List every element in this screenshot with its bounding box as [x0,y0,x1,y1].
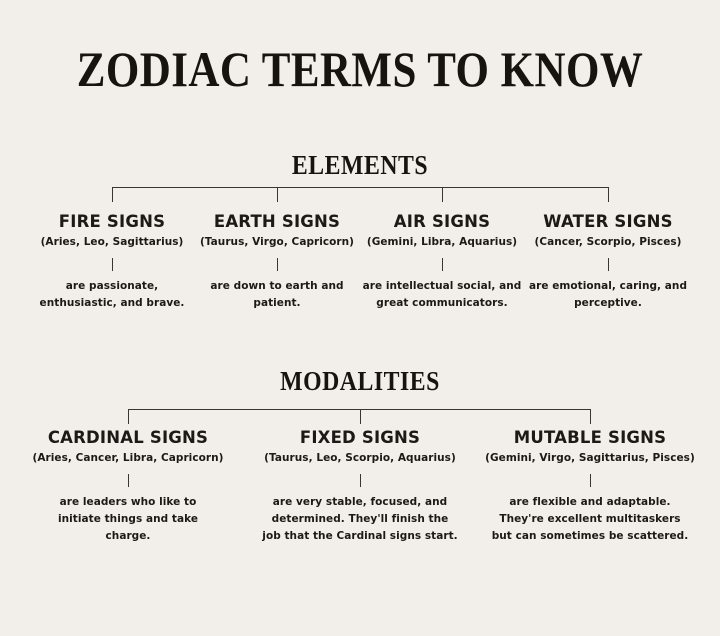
elements-stem-earth [277,258,278,271]
modality-signs-cardinal: (Aries, Cancer, Libra, Capricorn) [8,451,248,466]
modality-description-mutable: are flexible and adaptable. They're exce… [488,494,692,545]
modalities-stem-fixed [360,474,361,487]
element-description-air: are intellectual social, and great commu… [357,278,527,312]
modality-signs-mutable: (Gemini, Virgo, Sagittarius, Pisces) [470,451,710,466]
zodiac-infographic: ZODIAC TERMS TO KNOW ELEMENTS FIRE SIGNS… [0,0,720,636]
elements-stem-water [608,258,609,271]
modalities-bracket-tick-mutable [590,409,591,424]
modality-signs-fixed: (Taurus, Leo, Scorpio, Aquarius) [240,451,480,466]
elements-bracket-tick-air [442,187,443,202]
modalities-bracket-tick-fixed [360,409,361,424]
modality-column-mutable: MUTABLE SIGNS (Gemini, Virgo, Sagittariu… [470,428,710,466]
elements-stem-fire [112,258,113,271]
modality-title-cardinal: CARDINAL SIGNS [8,428,248,448]
section-heading-elements: ELEMENTS [43,150,677,180]
elements-bracket-tick-fire [112,187,113,202]
elements-bracket-tick-earth [277,187,278,202]
element-description-earth: are down to earth and patient. [192,278,362,312]
modalities-bracket-tick-cardinal [128,409,129,424]
modality-column-fixed: FIXED SIGNS (Taurus, Leo, Scorpio, Aquar… [240,428,480,466]
element-description-water: are emotional, caring, and perceptive. [523,278,693,312]
elements-bracket-tick-water [608,187,609,202]
section-heading-modalities: MODALITIES [43,366,677,396]
modality-title-fixed: FIXED SIGNS [240,428,480,448]
elements-bracket-spine [112,187,609,188]
modality-description-fixed: are very stable, focused, and determined… [262,494,458,545]
page-title: ZODIAC TERMS TO KNOW [50,41,669,97]
modality-column-cardinal: CARDINAL SIGNS (Aries, Cancer, Libra, Ca… [8,428,248,466]
modality-description-cardinal: are leaders who like to initiate things … [38,494,218,545]
modality-title-mutable: MUTABLE SIGNS [470,428,710,448]
element-signs-water: (Cancer, Scorpio, Pisces) [508,235,708,250]
element-column-water: WATER SIGNS (Cancer, Scorpio, Pisces) [508,212,708,250]
element-title-water: WATER SIGNS [508,212,708,232]
modalities-stem-mutable [590,474,591,487]
elements-stem-air [442,258,443,271]
modalities-stem-cardinal [128,474,129,487]
element-description-fire: are passionate, enthusiastic, and brave. [27,278,197,312]
